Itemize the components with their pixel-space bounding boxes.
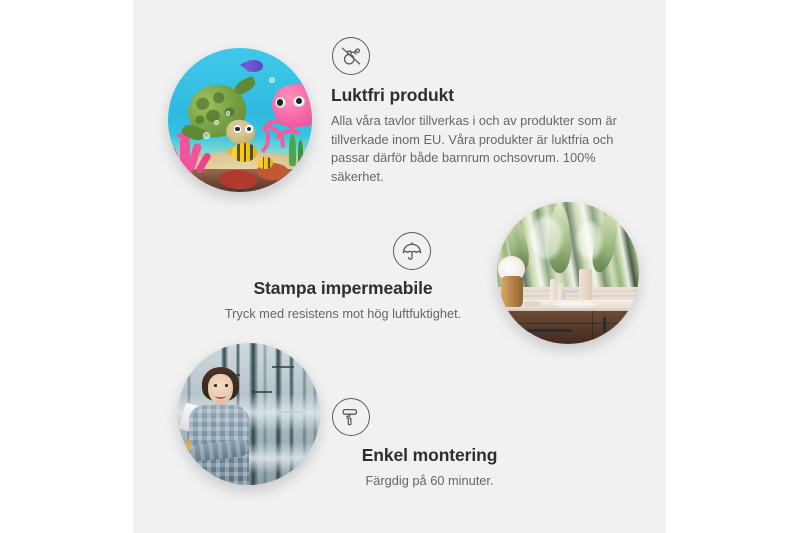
umbrella-icon	[393, 232, 431, 270]
soap-dish	[523, 301, 541, 307]
bottle	[550, 279, 557, 302]
ocean-rock	[220, 170, 257, 189]
feature-description: Alla våra tavlor tillverkas i och av pro…	[331, 112, 631, 187]
bathroom-tropical-wallpaper-photo: Round photo of a bathroom with green tro…	[497, 202, 639, 344]
wallpaper-highlight	[577, 222, 603, 259]
drawer-handle	[525, 329, 572, 332]
paint-roller-icon	[332, 398, 370, 436]
branch	[272, 366, 295, 368]
gold-vase	[501, 276, 522, 307]
woman-smile	[215, 393, 226, 399]
branch	[252, 391, 272, 393]
fish-tail-purple	[240, 62, 245, 68]
woman-eye	[225, 384, 228, 386]
bubble	[203, 132, 210, 139]
kids-underwater-artwork-photo: Round children's wall art showing an und…	[168, 48, 312, 192]
feature-title: Enkel montering	[307, 445, 552, 466]
feature-odorless: Luktfri produkt Alla våra tavlor tillver…	[331, 37, 631, 187]
feature-title: Luktfri produkt	[331, 85, 631, 106]
bubble	[226, 111, 230, 115]
woman-eye	[214, 384, 217, 386]
fish-tail	[226, 147, 232, 155]
turtle-flipper	[233, 75, 257, 95]
infographic-canvas: Round children's wall art showing an und…	[0, 0, 800, 533]
feature-description: Färgdig på 60 minuter.	[307, 472, 552, 491]
woman-with-paint-roller-photo: Round photo of a smiling woman in a plai…	[178, 343, 320, 485]
cabinet-handle	[603, 317, 606, 332]
forest-scene	[178, 343, 320, 485]
no-perfume-spray-icon	[332, 37, 370, 75]
wallpaper-highlight	[531, 216, 562, 259]
towel	[579, 269, 592, 303]
fish-yellow-small	[257, 157, 273, 169]
drawer-line	[506, 323, 639, 324]
bubble	[269, 77, 275, 83]
octopus-eye	[293, 96, 305, 108]
drawer-line	[592, 311, 593, 344]
fish-purple	[244, 60, 263, 73]
feature-title: Stampa impermeabile	[208, 278, 478, 299]
feature-description: Tryck med resistens mot hög luftfuktighe…	[208, 305, 478, 324]
feature-waterproof: Stampa impermeabile Tryck med resistens …	[208, 232, 478, 324]
fish-yellow	[231, 143, 257, 162]
bathroom-scene	[497, 202, 639, 344]
vanity-cabinet	[506, 311, 639, 344]
ocean-scene	[168, 48, 312, 192]
feature-assembly: Enkel montering Färgdig på 60 minuter.	[307, 398, 552, 491]
